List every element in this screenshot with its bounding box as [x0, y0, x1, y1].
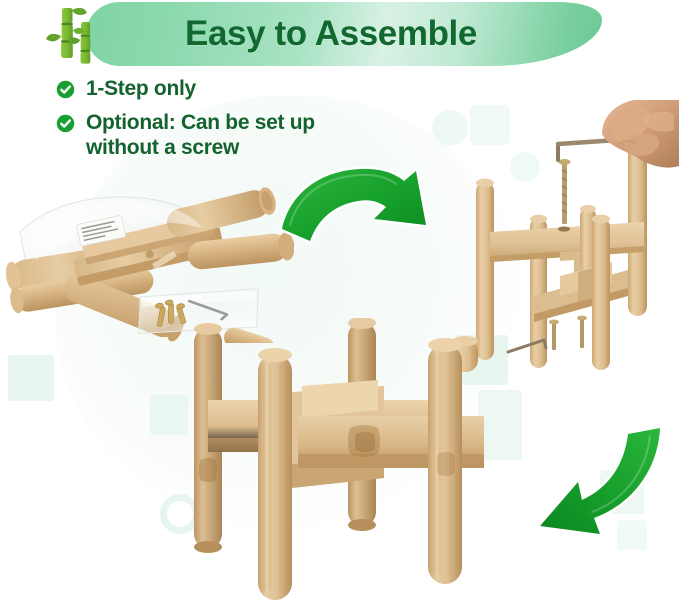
cross-rail — [490, 222, 644, 277]
step-arrow-top[interactable] — [276, 163, 444, 255]
easy-to-assemble-infographic: Easy to Assemble — [0, 0, 679, 600]
feature-list: 1-Step only Optional: Can be set up with… — [56, 76, 456, 169]
hand — [602, 100, 679, 168]
check-circle-icon — [56, 80, 75, 99]
flat-packed-kit-photo — [2, 168, 294, 343]
list-item-label: Optional: Can be set up without a screw — [86, 110, 315, 160]
list-item: 1-Step only — [56, 76, 456, 101]
leg — [592, 215, 610, 370]
check-circle-icon — [56, 114, 75, 133]
list-item-label: 1-Step only — [86, 76, 196, 101]
screw — [559, 159, 571, 224]
assembled-stand-photo — [152, 318, 488, 600]
allen-key — [558, 140, 618, 160]
decor-square — [8, 355, 54, 401]
step-arrow-bottom[interactable] — [482, 418, 664, 543]
bamboo-stalks-icon — [44, 4, 108, 70]
leg — [258, 348, 292, 600]
page-title: Easy to Assemble — [86, 2, 602, 66]
list-item: Optional: Can be set up without a screw — [56, 110, 456, 160]
leg — [428, 338, 462, 584]
loose-screws — [508, 316, 587, 352]
cross-rail — [534, 262, 628, 322]
